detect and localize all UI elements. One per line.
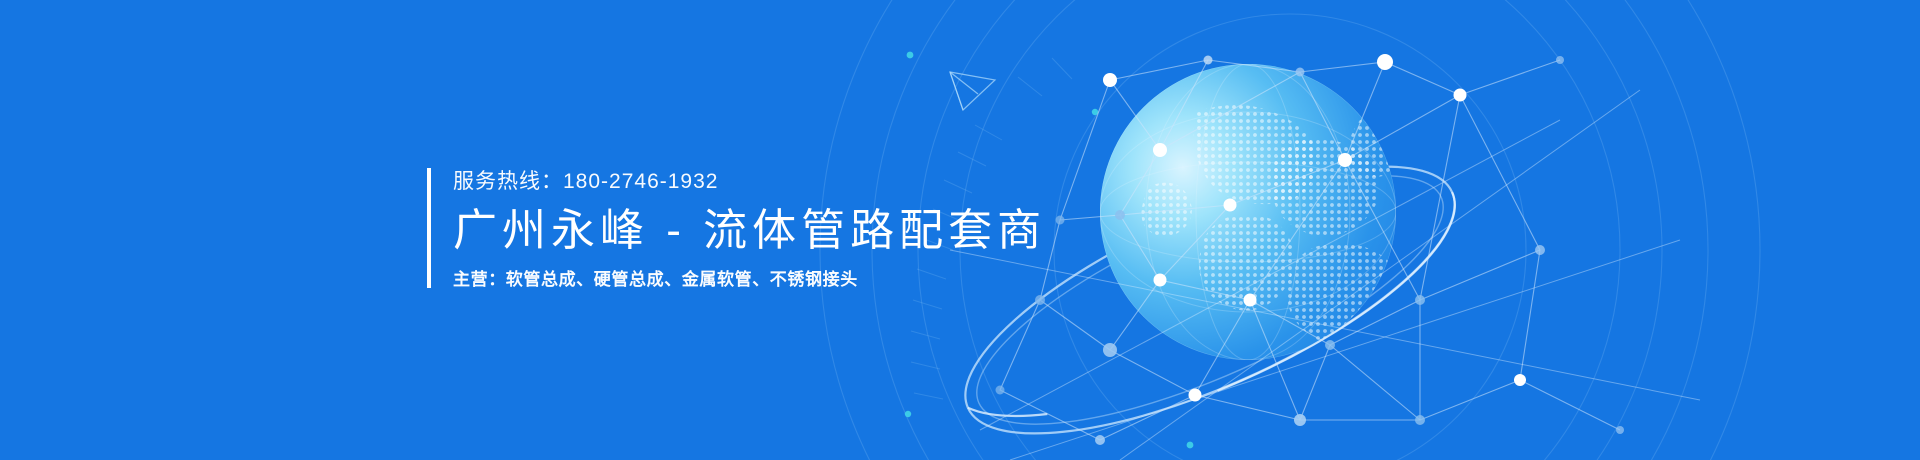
- hero-banner: 服务热线：180-2746-1932 广州永峰 - 流体管路配套商 主营：软管总…: [0, 0, 1920, 460]
- accent-bar: [427, 168, 431, 288]
- hero-text-lines: 服务热线：180-2746-1932 广州永峰 - 流体管路配套商 主营：软管总…: [453, 168, 1046, 292]
- service-hotline: 服务热线：180-2746-1932: [453, 168, 1046, 196]
- product-subtitle: 主营：软管总成、硬管总成、金属软管、不锈钢接头: [453, 268, 1046, 292]
- hero-text-block: 服务热线：180-2746-1932 广州永峰 - 流体管路配套商 主营：软管总…: [427, 168, 1046, 292]
- page-title: 广州永峰 - 流体管路配套商: [453, 204, 1046, 258]
